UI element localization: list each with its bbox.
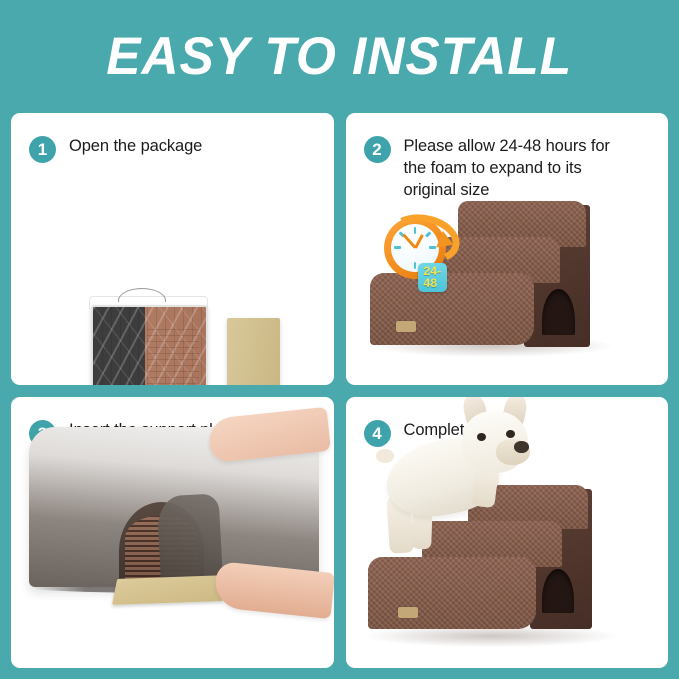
step-number-badge-2: 2 (364, 136, 391, 163)
clock-hand-hour (414, 234, 424, 249)
step-2-header: 2 Please allow 24-48 hours for the foam … (346, 113, 669, 201)
title-bar: EASY TO INSTALL (0, 0, 679, 113)
hand-lower (213, 560, 334, 618)
clock-ring (384, 217, 446, 279)
dog-front-leg (471, 459, 499, 507)
sealed-package (91, 305, 208, 385)
support-plate (227, 318, 280, 385)
dog-hind-leg-2 (411, 498, 433, 549)
step-3-header: 3 Insert the support plates into each st… (11, 397, 334, 463)
fabric-flap (157, 493, 224, 592)
brand-logo-tag (398, 607, 418, 618)
clock-tick (394, 246, 401, 249)
step-1-text: Open the package (69, 135, 202, 157)
step-3-text: Insert the support plates into each step… (69, 419, 294, 463)
stair-tread-top (458, 201, 586, 247)
stairs-shadow (372, 335, 612, 357)
clock-tick (398, 231, 404, 237)
step-card-2: 2 Please allow 24-48 hours for the foam … (346, 113, 669, 385)
steps-grid: 1 Open the package 2 Please allow 24-48 … (0, 113, 679, 679)
support-plate-inserting (112, 575, 228, 605)
clock-tick (414, 262, 417, 269)
dog-tail (376, 449, 394, 463)
stairs-side-panel (530, 489, 592, 629)
stairs-shadow (366, 625, 616, 647)
step-number-badge-1: 1 (29, 136, 56, 163)
brand-logo-tag (396, 321, 416, 332)
page-title: EASY TO INSTALL (107, 30, 573, 83)
easy-to-install-infographic: EASY TO INSTALL 1 Open the package 2 Ple… (0, 0, 679, 679)
pet-door-arch-opening (119, 502, 204, 587)
stair-tread-middle (418, 237, 560, 283)
clock-tick (414, 227, 417, 234)
pet-door-arch (542, 289, 575, 335)
step-card-4: 4 Complete (346, 397, 669, 669)
stair-tread-bottom (368, 557, 536, 629)
clock-tick (429, 246, 436, 249)
stairs-side-panel (524, 205, 590, 347)
step-1-header: 1 Open the package (11, 113, 334, 163)
package-seal (89, 296, 208, 309)
pet-door-arch (542, 569, 574, 613)
step-number-badge-4: 4 (364, 420, 391, 447)
step-4-text: Complete (404, 419, 474, 441)
step-number-badge-3: 3 (29, 420, 56, 447)
dog-hind-leg (386, 494, 414, 554)
step-card-1: 1 Open the package (11, 113, 334, 385)
step-2-text: Please allow 24-48 hours for the foam to… (404, 135, 629, 201)
foam-interior (125, 516, 198, 587)
clock-hand-minute (402, 234, 416, 249)
stair-tread-top (468, 485, 588, 529)
step-card-3: 3 Insert the support plates into each st… (11, 397, 334, 669)
clock-arrow-head (436, 231, 457, 253)
stair-tread-bottom (370, 273, 534, 345)
hours-badge: 24-48 (418, 263, 448, 292)
clock-arrow-tail (383, 208, 463, 270)
clock-face (391, 224, 439, 272)
stair-tread-middle (422, 521, 562, 567)
clock-icon: 24-48 (384, 217, 446, 279)
stairs-ground-line (33, 583, 323, 593)
clock-tick (424, 231, 430, 237)
step-4-header: 4 Complete (346, 397, 669, 447)
